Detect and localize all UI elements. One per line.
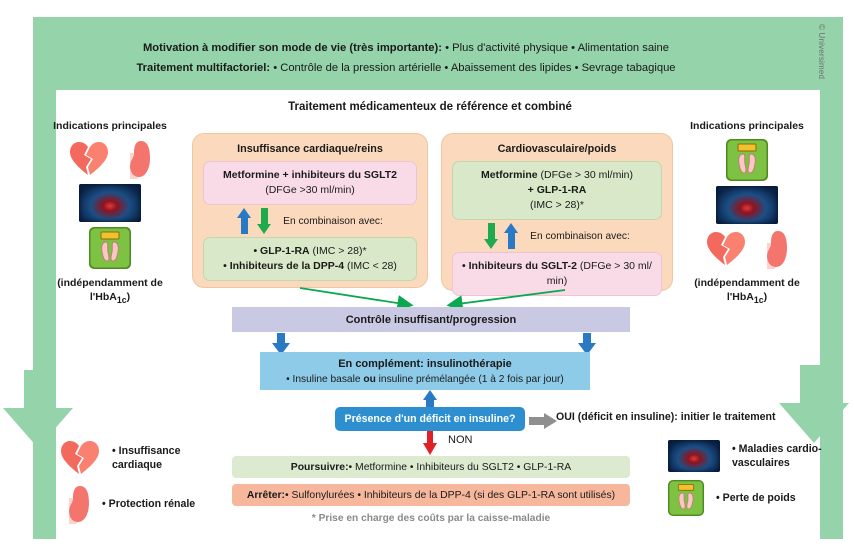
header-line-1-bold: Motivation à modifier son mode de vie (t…: [143, 42, 442, 54]
insulin-sub-b: insuline prémélangée (1 à 2 fois par jou…: [376, 374, 564, 385]
footnote-cost-coverage: * Prise en charge des coûts par la caiss…: [232, 513, 630, 524]
legend-label: • Maladies cardio- vasculaires: [732, 442, 822, 470]
box-insulin-therapy: En complément: insulinothérapie • Insuli…: [260, 352, 590, 390]
legend-label-line2: cardiaque: [112, 459, 162, 471]
green-down-arrow: [257, 208, 272, 234]
legend-item: • Perte de poids: [668, 480, 853, 516]
panel-right-top-line2-bold: + GLP-1-RA: [528, 184, 587, 196]
panel-right-bottom-line1-rest: (DFGe > 30 ml/: [577, 260, 652, 272]
panel-right-top-line1: Metformine (DFGe > 30 ml/min): [460, 168, 654, 183]
panel-left-combo-label: En combinaison avec:: [283, 216, 383, 227]
right-icon-stack: [672, 139, 822, 269]
grey-right-arrow: [529, 413, 557, 429]
legend-label: • Perte de poids: [716, 491, 796, 505]
right-footer-line1: (indépendamment de: [694, 277, 800, 289]
panel-left-combo-row: En combinaison avec:: [203, 205, 417, 237]
arrow-head: [779, 403, 849, 443]
box-insufficient-control: Contrôle insuffisant/progression: [232, 307, 630, 332]
left-indications-footer: (indépendamment de l'HbA1c): [35, 276, 185, 307]
continue-bold: Poursuivre:: [291, 462, 349, 473]
legend-label-line1: • Maladies cardio-: [732, 443, 822, 455]
insulin-sub-bold: ou: [363, 374, 375, 385]
panel-heart-kidney-failure: Insuffisance cardiaque/reins Metformine …: [192, 133, 428, 288]
legend-label-line1: • Perte de poids: [716, 492, 796, 504]
stop-bold: Arrêter:: [247, 490, 285, 501]
green-down-arrow-left: [3, 370, 73, 448]
right-footer-subscript: 1c: [754, 295, 764, 305]
right-indications-title: Indications principales: [672, 120, 822, 132]
header-line-2-bold: Traitement multifactoriel:: [136, 62, 270, 74]
legend-left: • Insuffisance cardiaque • Protection ré…: [60, 440, 230, 532]
panel-left-bottom-line2-rest: (IMC < 28): [344, 260, 397, 272]
left-icon-pair: [69, 139, 151, 179]
panel-left-top-sub: (DFGe >30 ml/min): [211, 183, 409, 198]
panel-left-top-box: Metformine + inhibiteurs du SGLT2 (DFGe …: [203, 161, 417, 205]
right-indications-footer: (indépendamment de l'HbA1c): [672, 276, 822, 307]
box-continue-medications: Poursuivre: • Metformine • Inhibiteurs d…: [232, 456, 630, 478]
legend-right: • Maladies cardio- vasculaires • Perte d…: [668, 440, 853, 524]
box-insulin-deficit-question: Présence d'un déficit en insuline?: [335, 407, 525, 431]
panel-right-top-box: Metformine (DFGe > 30 ml/min) + GLP-1-RA…: [452, 161, 662, 220]
green-down-arrow: [484, 223, 499, 249]
left-indications-title: Indications principales: [35, 120, 185, 132]
cardiovascular-image-icon: [668, 440, 720, 472]
weight-scale-image-icon: [89, 227, 131, 269]
kidney-icon: [121, 139, 151, 179]
red-down-arrow-no-branch: [423, 431, 437, 455]
weight-scale-image-icon: [668, 480, 704, 516]
panel-right-bottom-box: • Inhibiteurs du SGLT-2 (DFGe > 30 ml/ m…: [452, 252, 662, 296]
box-stop-medications: Arrêter: • Sulfonylurées • Inhibiteurs d…: [232, 484, 630, 506]
left-indications-column: Indications principales (ind: [35, 120, 185, 307]
insulin-title: En complément: insulinothérapie: [260, 356, 590, 372]
left-footer-line1: (indépendamment de: [57, 277, 163, 289]
panel-cardiovascular-weight: Cardiovasculaire/poids Metformine (DFGe …: [441, 133, 673, 291]
insulin-subline: • Insuline basale ou insuline prémélangé…: [260, 372, 590, 387]
header-line-1-rest: • Plus d'activité physique • Alimentatio…: [442, 42, 669, 54]
panel-left-bottom-line1-rest: (IMC > 28)*: [310, 245, 367, 257]
panel-left-title: Insuffisance cardiaque/reins: [203, 143, 417, 155]
diagram-root: Motivation à modifier son mode de vie (t…: [0, 0, 854, 551]
panel-right-bottom-line1-bold: • Inhibiteurs du SGLT-2: [462, 260, 577, 272]
green-down-arrow-right: [779, 365, 849, 443]
broken-heart-icon: [60, 440, 100, 476]
legend-label-line2: vasculaires: [732, 457, 790, 469]
legend-item: • Insuffisance cardiaque: [60, 440, 230, 476]
panel-left-bottom-box: • GLP-1-RA (IMC > 28)* • Inhibiteurs de …: [203, 237, 417, 281]
panel-right-bottom-line1: • Inhibiteurs du SGLT-2 (DFGe > 30 ml/: [460, 259, 654, 274]
weight-scale-image-icon: [726, 139, 768, 181]
right-icon-pair: [706, 229, 788, 269]
left-footer-subscript: 1c: [117, 295, 127, 305]
header-line-2-rest: • Contrôle de la pression artérielle • A…: [270, 62, 675, 74]
blue-up-arrow: [237, 208, 252, 234]
panel-right-top-line3: (IMC > 28)*: [460, 198, 654, 213]
legend-item: • Protection rénale: [60, 484, 230, 524]
cardiovascular-image-icon: [79, 184, 141, 222]
kidney-icon: [758, 229, 788, 269]
panel-left-top-bold-line: Metformine + inhibiteurs du SGLT2: [211, 168, 409, 183]
panel-left-top-bold: Metformine + inhibiteurs du SGLT2: [223, 169, 397, 181]
legend-label: • Insuffisance cardiaque: [112, 444, 180, 472]
legend-item: • Maladies cardio- vasculaires: [668, 440, 853, 472]
panel-right-combo-label: En combinaison avec:: [530, 231, 630, 242]
blue-up-arrow: [504, 223, 519, 249]
panel-right-title: Cardiovasculaire/poids: [452, 143, 662, 155]
panel-left-bottom-line2: • Inhibiteurs de la DPP-4 (IMC < 28): [211, 259, 409, 274]
no-branch-label: NON: [448, 434, 472, 446]
legend-label-line1: • Protection rénale: [102, 498, 195, 510]
right-indications-column: Indications principales (ind: [672, 120, 822, 307]
legend-label-line1: • Insuffisance: [112, 445, 180, 457]
broken-heart-icon: [69, 141, 109, 177]
copyright-label: © Universimed: [817, 24, 826, 79]
cardiovascular-image-icon: [716, 186, 778, 224]
yes-branch-label: OUI (déficit en insuline): initier le tr…: [556, 411, 776, 423]
panel-right-top-line1-bold: Metformine: [481, 169, 538, 181]
panel-right-bottom-line2: min): [460, 274, 654, 289]
continue-rest: • Metformine • Inhibiteurs du SGLT2 • GL…: [349, 462, 572, 473]
header-line-1: Motivation à modifier son mode de vie (t…: [56, 38, 756, 58]
header-line-2: Traitement multifactoriel: • Contrôle de…: [56, 58, 756, 78]
main-title: Traitement médicamenteux de référence et…: [180, 101, 680, 113]
panel-left-bottom-line2-bold: • Inhibiteurs de la DPP-4: [223, 260, 344, 272]
left-icon-stack: [35, 139, 185, 269]
panel-right-top-line2: + GLP-1-RA: [460, 183, 654, 198]
arrow-shaft: [800, 365, 828, 405]
header-text-block: Motivation à modifier son mode de vie (t…: [56, 38, 756, 78]
broken-heart-icon: [706, 231, 746, 267]
panel-right-combo-row: En combinaison avec:: [452, 220, 662, 252]
insulin-sub-a: • Insuline basale: [286, 374, 363, 385]
arrow-shaft: [24, 370, 52, 410]
kidney-icon: [60, 484, 90, 524]
panel-left-bottom-line1-bold: • GLP-1-RA: [253, 245, 309, 257]
stop-rest: • Sulfonylurées • Inhibiteurs de la DPP-…: [285, 490, 615, 501]
panel-left-bottom-line1: • GLP-1-RA (IMC > 28)*: [211, 244, 409, 259]
panel-right-top-line1-rest: (DFGe > 30 ml/min): [538, 169, 633, 181]
legend-label: • Protection rénale: [102, 497, 195, 511]
